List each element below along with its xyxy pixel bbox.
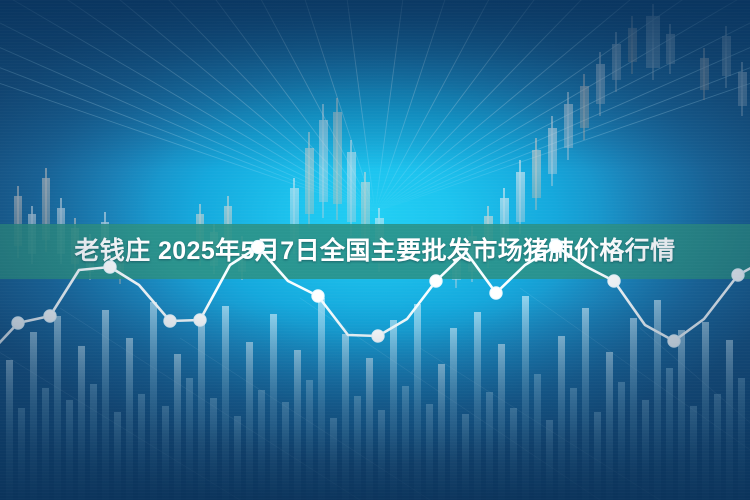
price-line-series bbox=[0, 215, 750, 500]
line-markers bbox=[12, 239, 744, 347]
price-chart-banner: 老钱庄 2025年5月7日全国主要批发市场猪肺价格行情 bbox=[0, 0, 750, 500]
